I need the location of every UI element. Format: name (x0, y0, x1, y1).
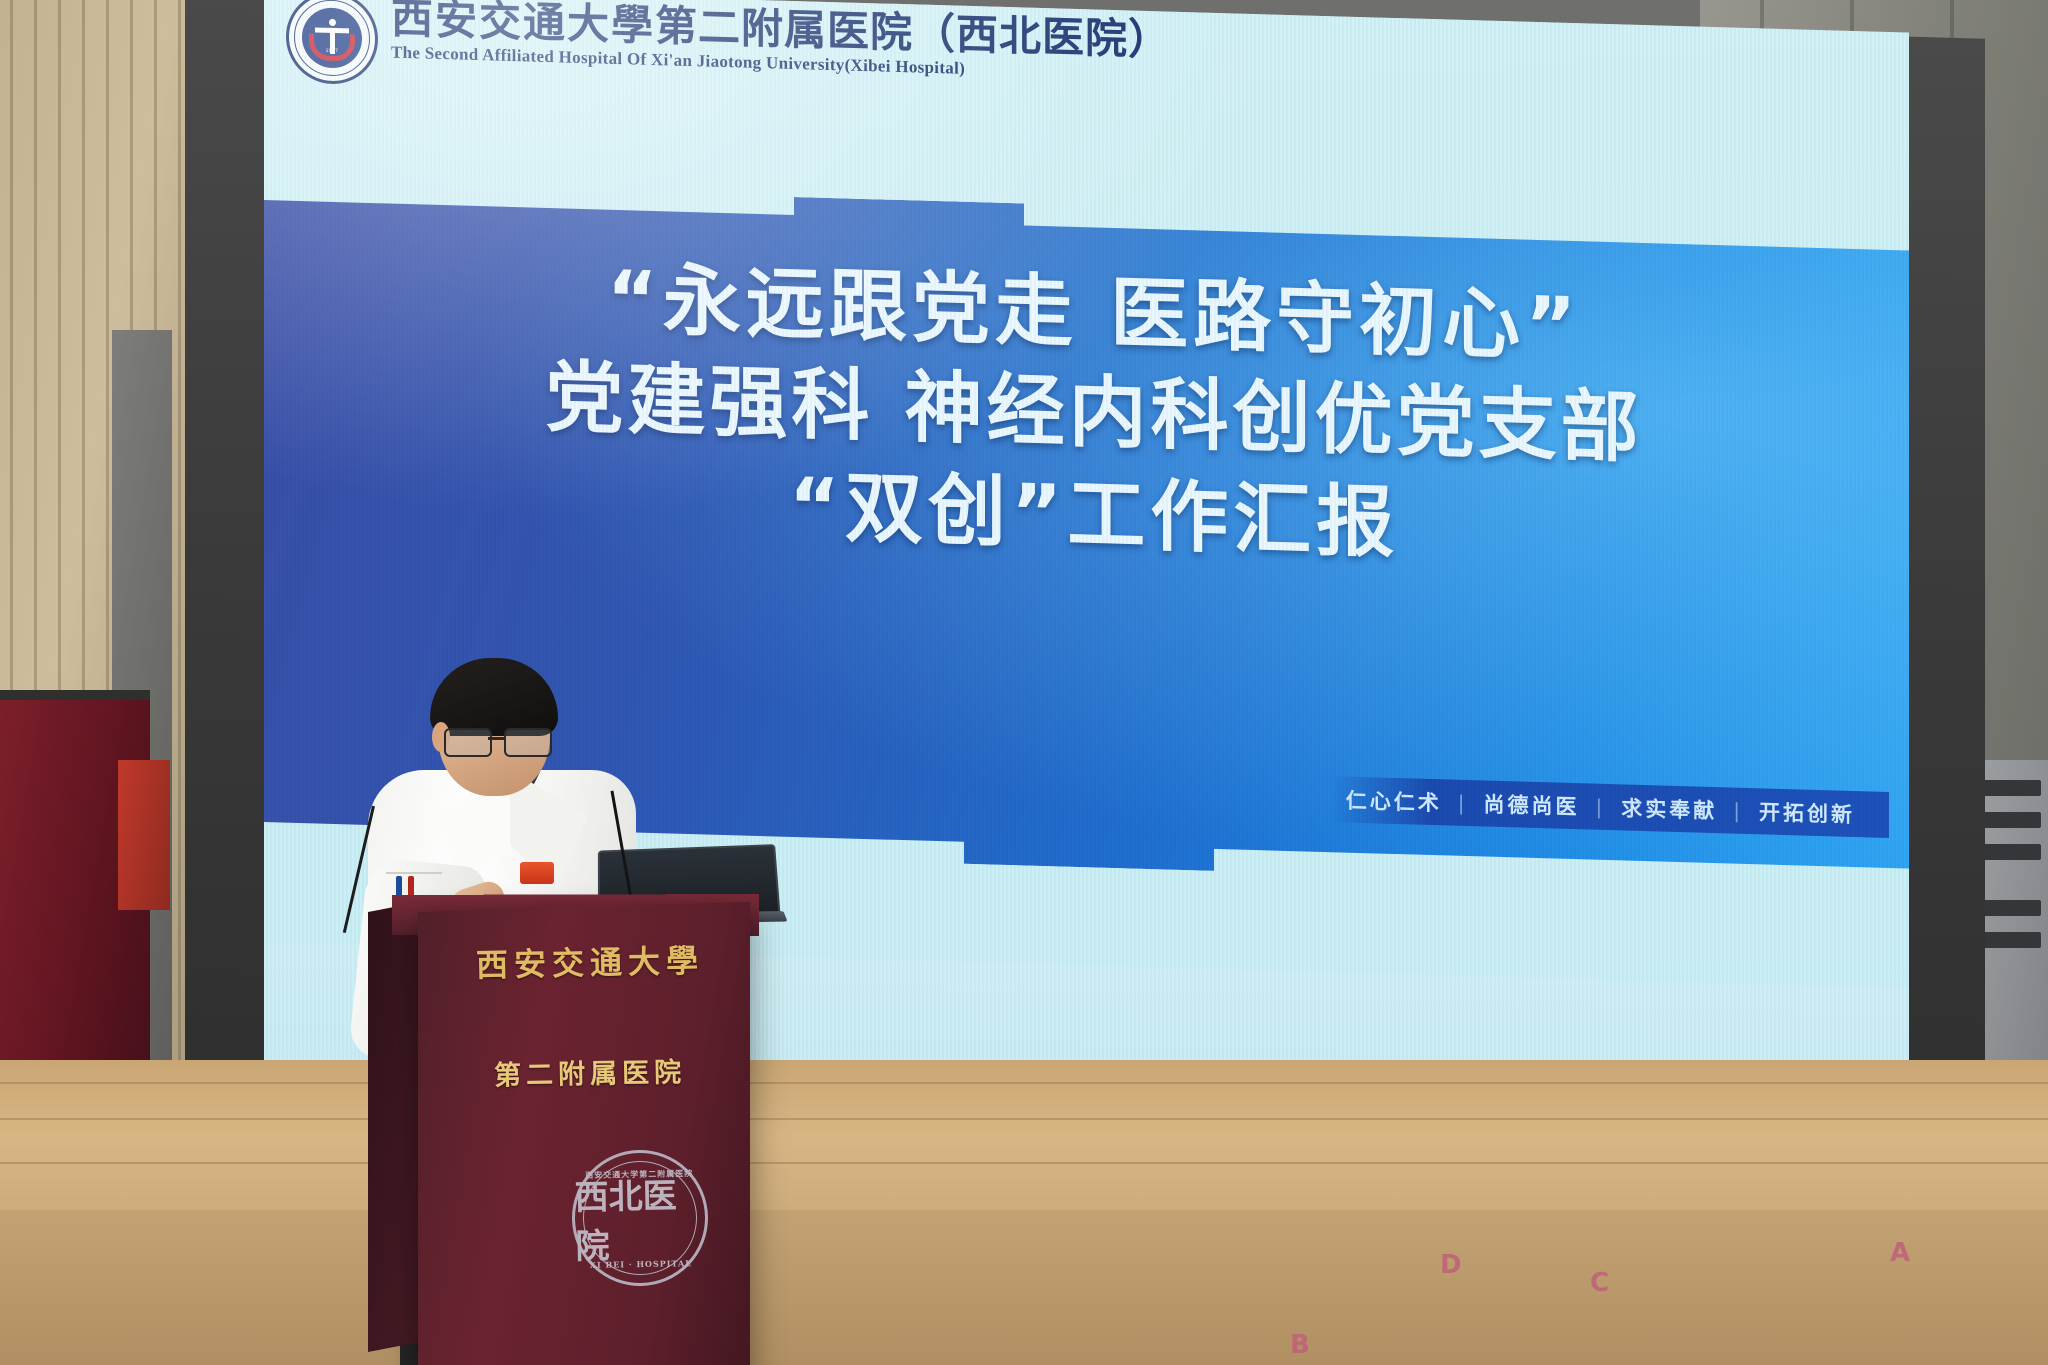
court-mark-c: C (1590, 1268, 1609, 1298)
hospital-name-cn-2: 第二附属医院 (655, 1, 913, 57)
slogan-item-2: 尚德尚医 (1468, 788, 1596, 822)
hospital-name-cn-1: 西安交通大學 (391, 0, 655, 50)
slogan-separator-3: | (1733, 799, 1743, 823)
hospital-seal-icon: 1937 (286, 0, 378, 85)
seal-year: 1937 (326, 48, 339, 54)
court-mark-d: D (1440, 1250, 1462, 1280)
podium-emblem-icon: 西安交通大学第二附属医院 西北医院 XI BEI · HOSPITAL (571, 1149, 709, 1287)
conference-hall-scene: 1937 西安交通大學第二附属医院（西北医院） The Second Affil… (0, 0, 2048, 1365)
slogan-item-4: 开拓创新 (1743, 796, 1871, 830)
slide-title-block: “永远跟党走 医路守初心” 党建强科 神经内科创优党支部 “双创”工作汇报 (264, 244, 1909, 585)
red-equipment-box (118, 760, 170, 910)
court-mark-a: A (1890, 1238, 1910, 1268)
slogan-separator-1: | (1458, 791, 1468, 815)
slogan-separator-2: | (1596, 795, 1606, 819)
court-mark-b: B (1290, 1330, 1310, 1360)
slogan-item-3: 求实奉献 (1605, 792, 1733, 826)
speaker-pocket (386, 872, 442, 874)
podium-emblem-bottom-text: XI BEI · HOSPITAL (590, 1258, 692, 1270)
wooden-floor-front (0, 1210, 2048, 1365)
hospital-name-cn-3: （西北医院） (913, 8, 1171, 64)
podium-emblem-top-text: 西安交通大学第二附属医院 (585, 1168, 693, 1181)
podium-university-name: 西安交通大學 (470, 935, 711, 986)
glasses-icon (444, 728, 550, 754)
slogan-item-1: 仁心仁术 (1330, 784, 1458, 818)
podium-hospital-name: 第二附属医院 (460, 1050, 721, 1094)
speaker-chest-badge (520, 862, 554, 884)
